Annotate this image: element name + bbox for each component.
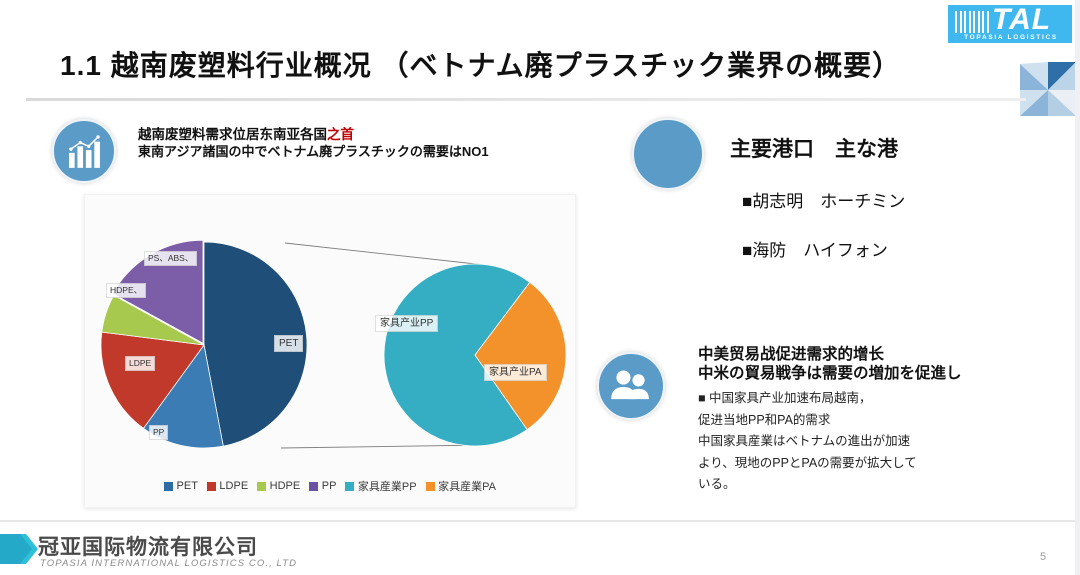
legend-item: 家具産業PP (345, 478, 416, 494)
legend-swatch (257, 482, 266, 491)
slice-label-pet: PET (274, 335, 303, 352)
trade-heading-jp: 中米の貿易戦争は需要の増加を促進し (698, 364, 962, 383)
trade-body-line: 中国家具産業はベトナムの進出が加速 (698, 431, 1028, 453)
trade-body-line: いる。 (698, 474, 1028, 496)
trade-heading-cn: 中美贸易战促进需求的增长 (698, 345, 962, 364)
slice-label-ps-abs: PS、ABS、 (144, 251, 197, 266)
key-point-line1-highlight: 之首 (327, 127, 354, 142)
legend-label: PP (322, 480, 337, 492)
slice-label-furniture-pp: 家具产业PP (375, 315, 438, 332)
legend-item: PET (164, 480, 198, 492)
key-point-line2: 東南アジア諸国の中でベトナム廃プラスチックの需要はNO1 (138, 143, 489, 160)
tal-logo: TAL TOPASIA LOGISTICS (947, 4, 1073, 44)
logo-tagline: TOPASIA LOGISTICS (951, 34, 1071, 41)
key-point-text: 越南废塑料需求位居东南亚各国之首 東南アジア諸国の中でベトナム廃プラスチックの需… (138, 126, 489, 160)
legend-label: LDPE (219, 480, 248, 492)
legend-label: 家具産業PA (438, 478, 496, 494)
trade-heading: 中美贸易战促进需求的增长 中米の貿易戦争は需要の増加を促進し (698, 345, 962, 383)
trade-body-line: ■ 中国家具产业加速布局越南， (698, 388, 1028, 410)
slice-label-ldpe: LDPE (125, 356, 155, 371)
logo-bars-icon (955, 11, 989, 33)
legend-swatch (345, 482, 354, 491)
right-edge-strip (1075, 0, 1080, 575)
key-point-line1-main: 越南废塑料需求位居东南亚各国 (138, 127, 327, 142)
legend-swatch (164, 482, 173, 491)
bar-chart-icon (54, 121, 114, 181)
legend-item: PP (309, 480, 336, 492)
key-point-line1: 越南废塑料需求位居东南亚各国之首 (138, 126, 489, 143)
key-point-icon-circle (52, 119, 116, 183)
legend-label: PET (177, 480, 198, 492)
legend-swatch (426, 482, 435, 491)
port-item-haiphong: ■海防 ハイフォン (742, 236, 888, 261)
page-number: 5 (1040, 551, 1046, 563)
ports-title: 主要港口 主な港 (730, 133, 898, 163)
legend-item: 家具産業PA (426, 478, 496, 494)
legend-swatch (207, 482, 216, 491)
trade-body-line: より、現地のPPとPAの需要が拡大して (698, 453, 1028, 475)
title-divider (26, 98, 1026, 101)
logo-wordmark: TAL (992, 4, 1051, 36)
chart-legend: PETLDPEHDPEPP家具産業PP家具産業PA (85, 478, 575, 494)
pinwheel-decoration (1018, 62, 1078, 118)
legend-item: HDPE (257, 480, 300, 492)
slice-label-pp: PP (149, 425, 168, 440)
footer-company-en: TOPASIA INTERNATIONAL LOGISTICS CO., LTD (40, 558, 297, 569)
legend-item: LDPE (207, 480, 248, 492)
legend-swatch (309, 482, 318, 491)
trade-body: ■ 中国家具产业加速布局越南， 促进当地PP和PA的需求 中国家具産業はベトナム… (698, 388, 1028, 496)
trade-body-line: 促进当地PP和PA的需求 (698, 410, 1028, 432)
slice-label-hdpe: HDPE、 (106, 283, 146, 298)
footer-divider (0, 520, 1080, 522)
legend-label: HDPE (270, 480, 301, 492)
port-item-hochiminh: ■胡志明 ホーチミン (742, 187, 905, 212)
chart-canvas (85, 195, 577, 509)
footer-company-cn: 冠亚国际物流有限公司 (38, 531, 258, 561)
slice-label-furniture-pa: 家具产业PA (484, 364, 547, 381)
trade-icon-circle (597, 352, 665, 420)
ports-icon-circle (632, 118, 704, 190)
page-title: 1.1 越南废塑料行业概况 （ベトナム廃プラスチック業界の概要） (60, 44, 960, 84)
people-icon (599, 354, 663, 418)
pie-of-pie-chart: PET PP LDPE HDPE、 PS、ABS、 家具产业PP 家具产业PA … (84, 194, 576, 508)
secondary-pie (384, 264, 566, 446)
legend-label: 家具産業PP (358, 478, 417, 494)
